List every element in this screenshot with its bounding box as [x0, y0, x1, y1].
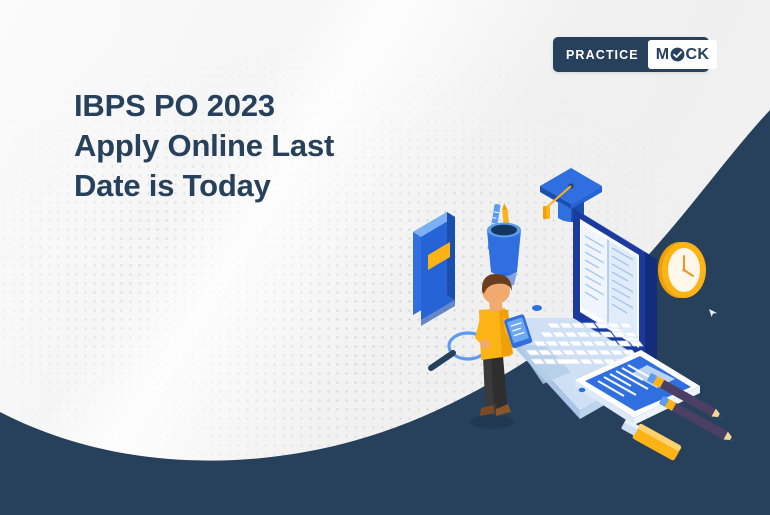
logo-mock-m: M [656, 46, 670, 64]
banner-root: PRACTICE M CK IBPS PO 2023 Apply Online … [0, 0, 770, 515]
check-in-circle-icon [670, 47, 685, 62]
cursor-sparkle-icon [706, 305, 720, 319]
page-title-line-3: Date is Today [74, 166, 454, 206]
page-title-line-1: IBPS PO 2023 [74, 86, 454, 126]
blue-book-icon [413, 212, 455, 326]
logo-mock-text: M CK [656, 46, 710, 64]
brand-logo[interactable]: PRACTICE M CK [553, 37, 709, 72]
logo-practice-text: PRACTICE [556, 48, 648, 62]
clock-icon [658, 242, 706, 298]
usb-drive-icon [619, 416, 681, 461]
logo-mock-box: M CK [648, 40, 718, 69]
logo-mock-ck: CK [685, 46, 709, 64]
page-title: IBPS PO 2023 Apply Online Last Date is T… [74, 86, 454, 206]
graduation-cap-icon [540, 168, 602, 222]
page-title-line-2: Apply Online Last [74, 126, 454, 166]
